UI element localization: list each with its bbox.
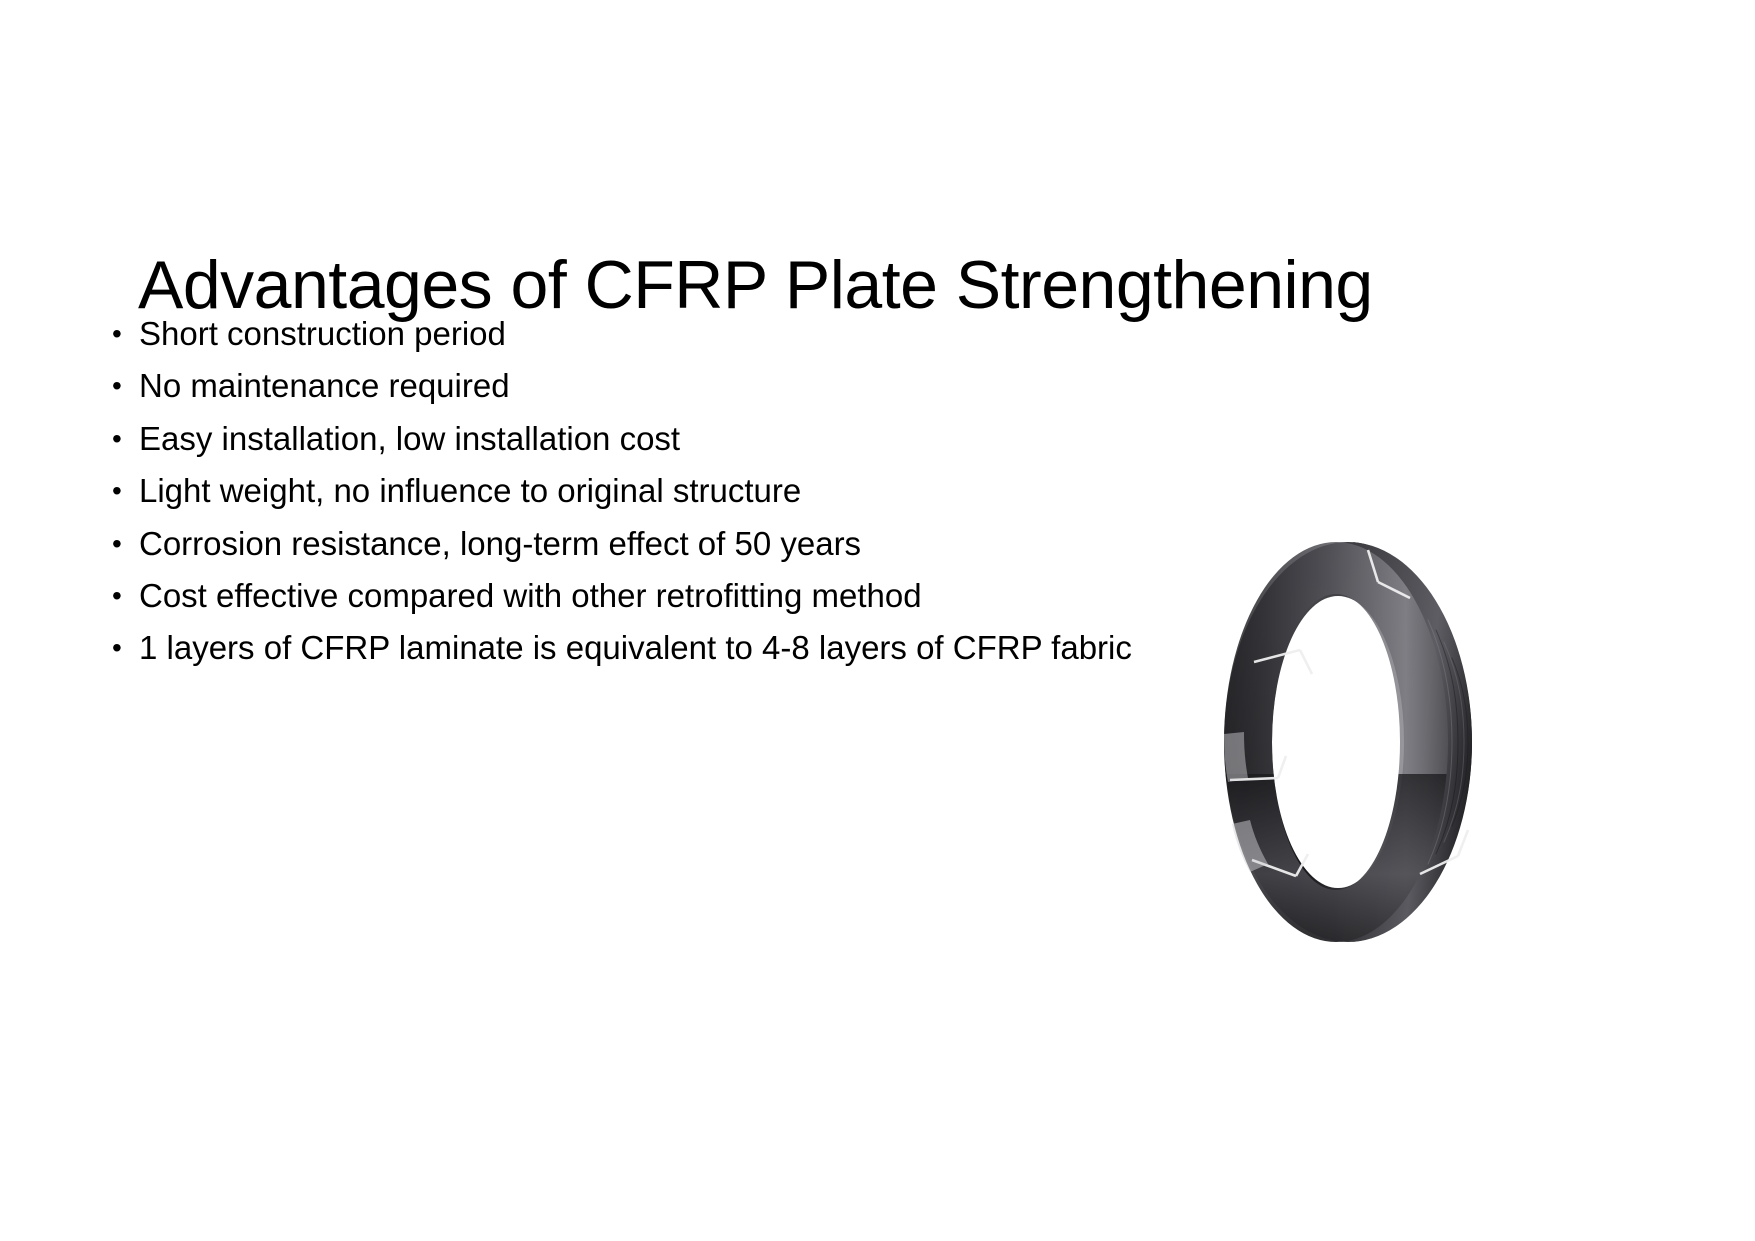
bullet-item: • Light weight, no influence to original… (112, 465, 1172, 517)
bullet-point-icon: • (112, 360, 122, 412)
bullet-item: • Easy installation, low installation co… (112, 413, 1172, 465)
bullet-point-icon: • (112, 518, 122, 570)
bullet-point-icon: • (112, 465, 122, 517)
bullet-list: • Short construction period • No mainten… (112, 308, 1172, 675)
bullet-item-label: 1 layers of CFRP laminate is equivalent … (139, 629, 1132, 666)
bullet-item-label: No maintenance required (139, 367, 510, 404)
bullet-point-icon: • (112, 622, 122, 674)
bullet-point-icon: • (112, 308, 122, 360)
presentation-slide: Advantages of CFRP Plate Strengthening •… (0, 0, 1755, 1241)
bullet-item: • Cost effective compared with other ret… (112, 570, 1172, 622)
cfrp-plate-coil-image (1196, 524, 1496, 956)
bullet-item: • Corrosion resistance, long-term effect… (112, 518, 1172, 570)
bullet-item: • 1 layers of CFRP laminate is equivalen… (112, 622, 1172, 674)
bullet-item: • No maintenance required (112, 360, 1172, 412)
bullet-item-label: Corrosion resistance, long-term effect o… (139, 525, 861, 562)
bullet-item-label: Light weight, no influence to original s… (139, 472, 801, 509)
bullet-item: • Short construction period (112, 308, 1172, 360)
bullet-point-icon: • (112, 413, 122, 465)
bullet-item-label: Cost effective compared with other retro… (139, 577, 922, 614)
bullet-item-label: Short construction period (139, 315, 506, 352)
bullet-item-label: Easy installation, low installation cost (139, 420, 680, 457)
bullet-point-icon: • (112, 570, 122, 622)
